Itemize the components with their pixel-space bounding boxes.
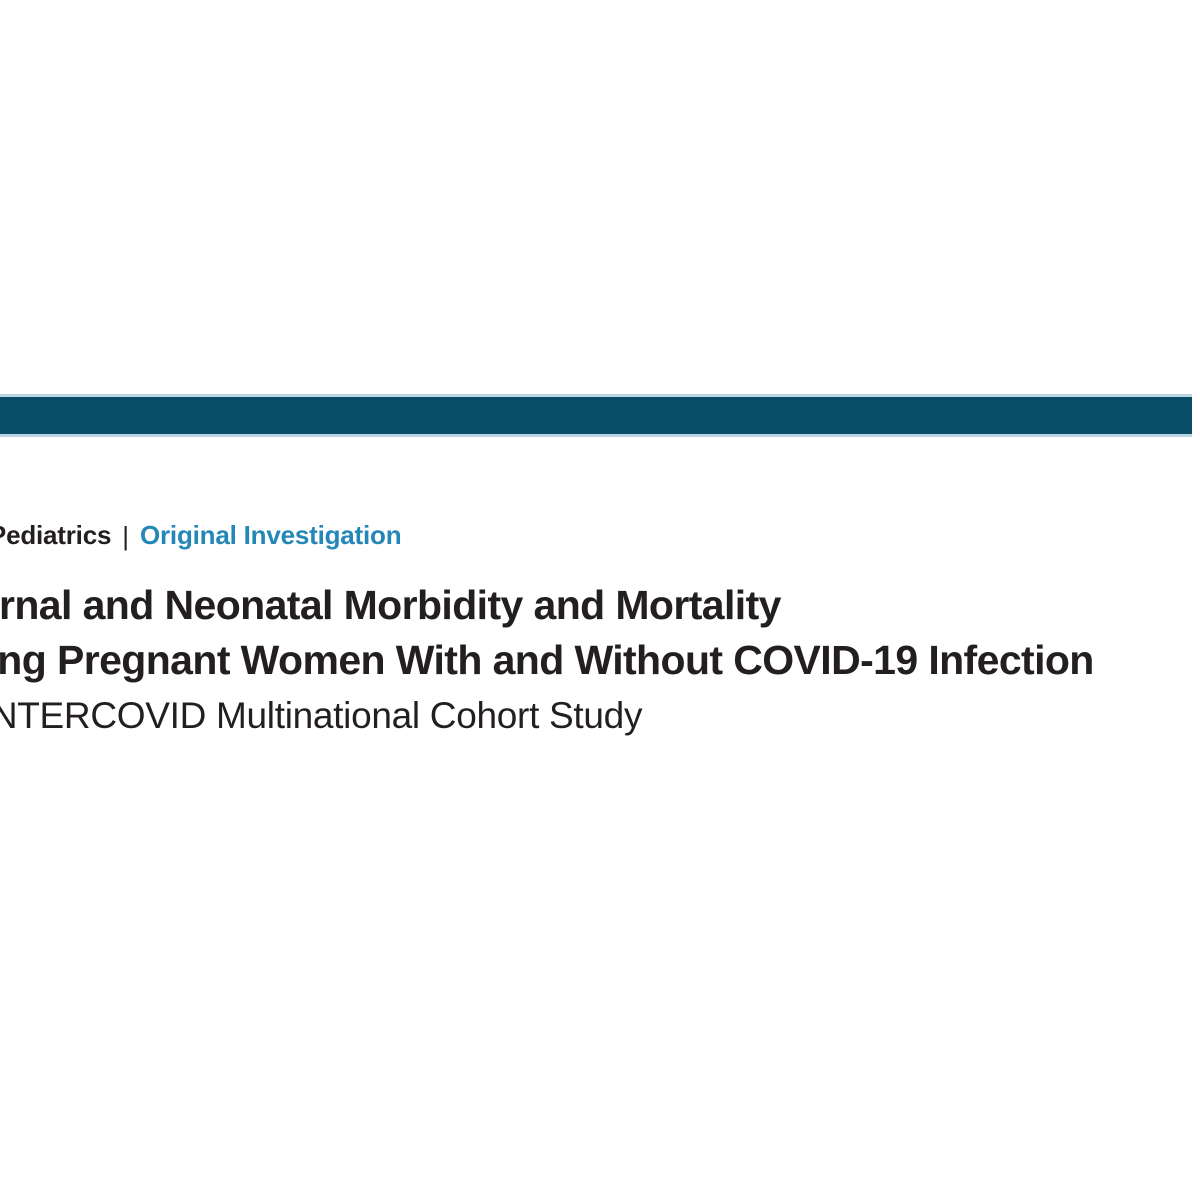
breadcrumb-separator: | [122,521,129,552]
journal-rule-band [0,397,1192,434]
article-type-label[interactable]: Original Investigation [140,520,401,551]
title-line-2: Among Pregnant Women With and Without CO… [0,633,1200,688]
page-title: Maternal and Neonatal Morbidity and Mort… [0,578,1200,744]
title-line-1: Maternal and Neonatal Morbidity and Mort… [0,578,1200,633]
document-page: JAMA Pediatrics | Original Investigation… [0,0,1200,1200]
journal-name: JAMA Pediatrics [0,520,111,551]
breadcrumb: JAMA Pediatrics | Original Investigation [0,520,1200,560]
subtitle-line-1: The INTERCOVID Multinational Cohort Stud… [0,688,1200,744]
article-header: JAMA Pediatrics | Original Investigation… [0,520,1200,744]
